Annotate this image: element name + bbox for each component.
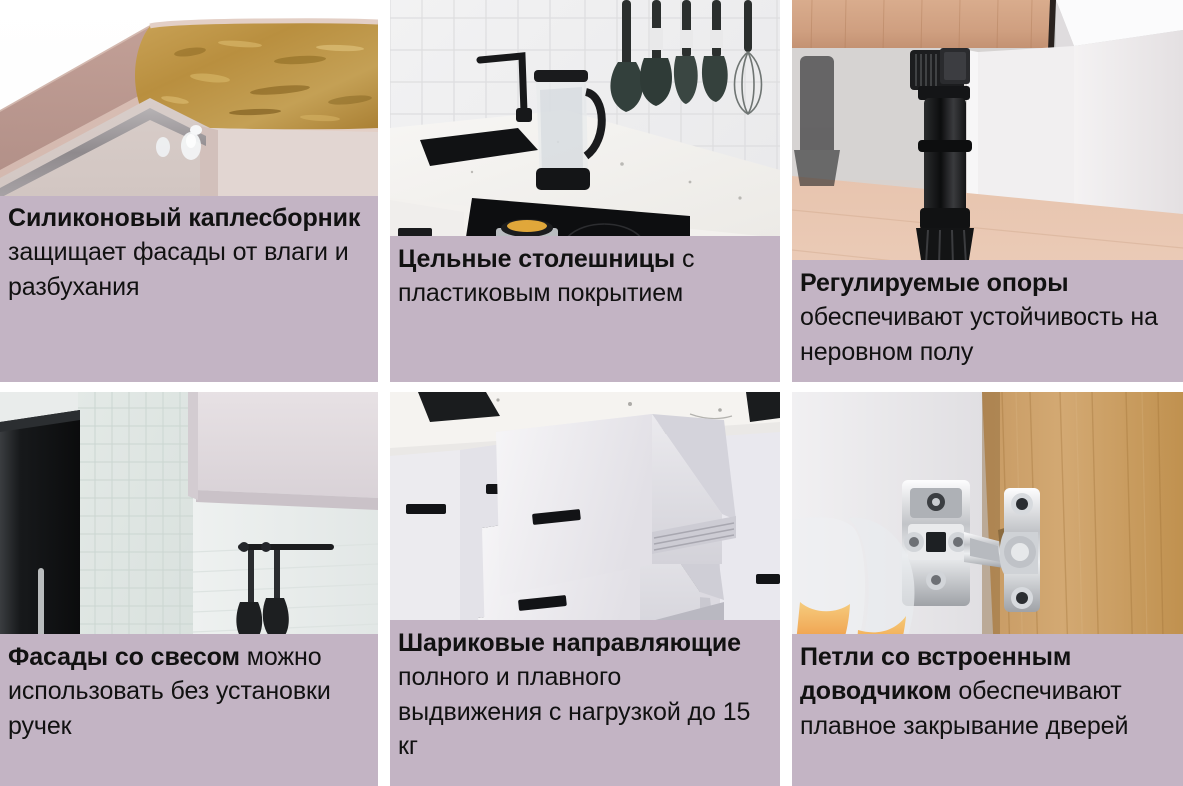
feature-caption-adjustable-legs: Регулируемые опоры обеспечивают устойчив… (792, 260, 1183, 382)
caption-bold-text: Цельные столешницы (398, 245, 675, 273)
caption-bold-text: Фасады со свесом (8, 643, 240, 671)
feature-caption-solid-countertops: Цельные столешницы с пластиковым покрыти… (390, 236, 780, 382)
feature-caption-overhang-fronts: Фасады со свесом можно использовать без … (0, 634, 378, 786)
feature-card-overhang-fronts[interactable]: Фасады со свесом можно использовать без … (0, 392, 378, 786)
caption-regular-text: защищает фасады от влаги и разбухания (8, 238, 349, 300)
feature-caption-silicone-drip-catcher: Силиконовый каплесборник защищает фасады… (0, 196, 378, 382)
feature-card-silicone-drip-catcher[interactable]: Силиконовый каплесборник защищает фасады… (0, 0, 378, 382)
feature-grid: Силиконовый каплесборник защищает фасады… (0, 0, 1183, 786)
feature-card-adjustable-legs[interactable]: Регулируемые опоры обеспечивают устойчив… (792, 0, 1183, 382)
feature-caption-ball-bearing-slides: Шариковые направляющие полного и плавног… (390, 620, 780, 786)
caption-bold-text: Шариковые направляющие (398, 629, 741, 657)
feature-caption-soft-close-hinges: Петли со встроенным доводчиком обеспечив… (792, 634, 1183, 786)
feature-card-solid-countertops[interactable]: Цельные столешницы с пластиковым покрыти… (390, 0, 780, 382)
caption-regular-text: полного и плавного выдвижения с нагрузко… (398, 663, 750, 760)
caption-bold-text: Регулируемые опоры (800, 269, 1068, 297)
caption-regular-text: обеспечивают устойчивость на неровном по… (800, 303, 1158, 365)
feature-card-ball-bearing-slides[interactable]: Шариковые направляющие полного и плавног… (390, 392, 780, 786)
feature-card-soft-close-hinges[interactable]: Петли со встроенным доводчиком обеспечив… (792, 392, 1183, 786)
caption-bold-text: Силиконовый каплесборник (8, 204, 360, 232)
